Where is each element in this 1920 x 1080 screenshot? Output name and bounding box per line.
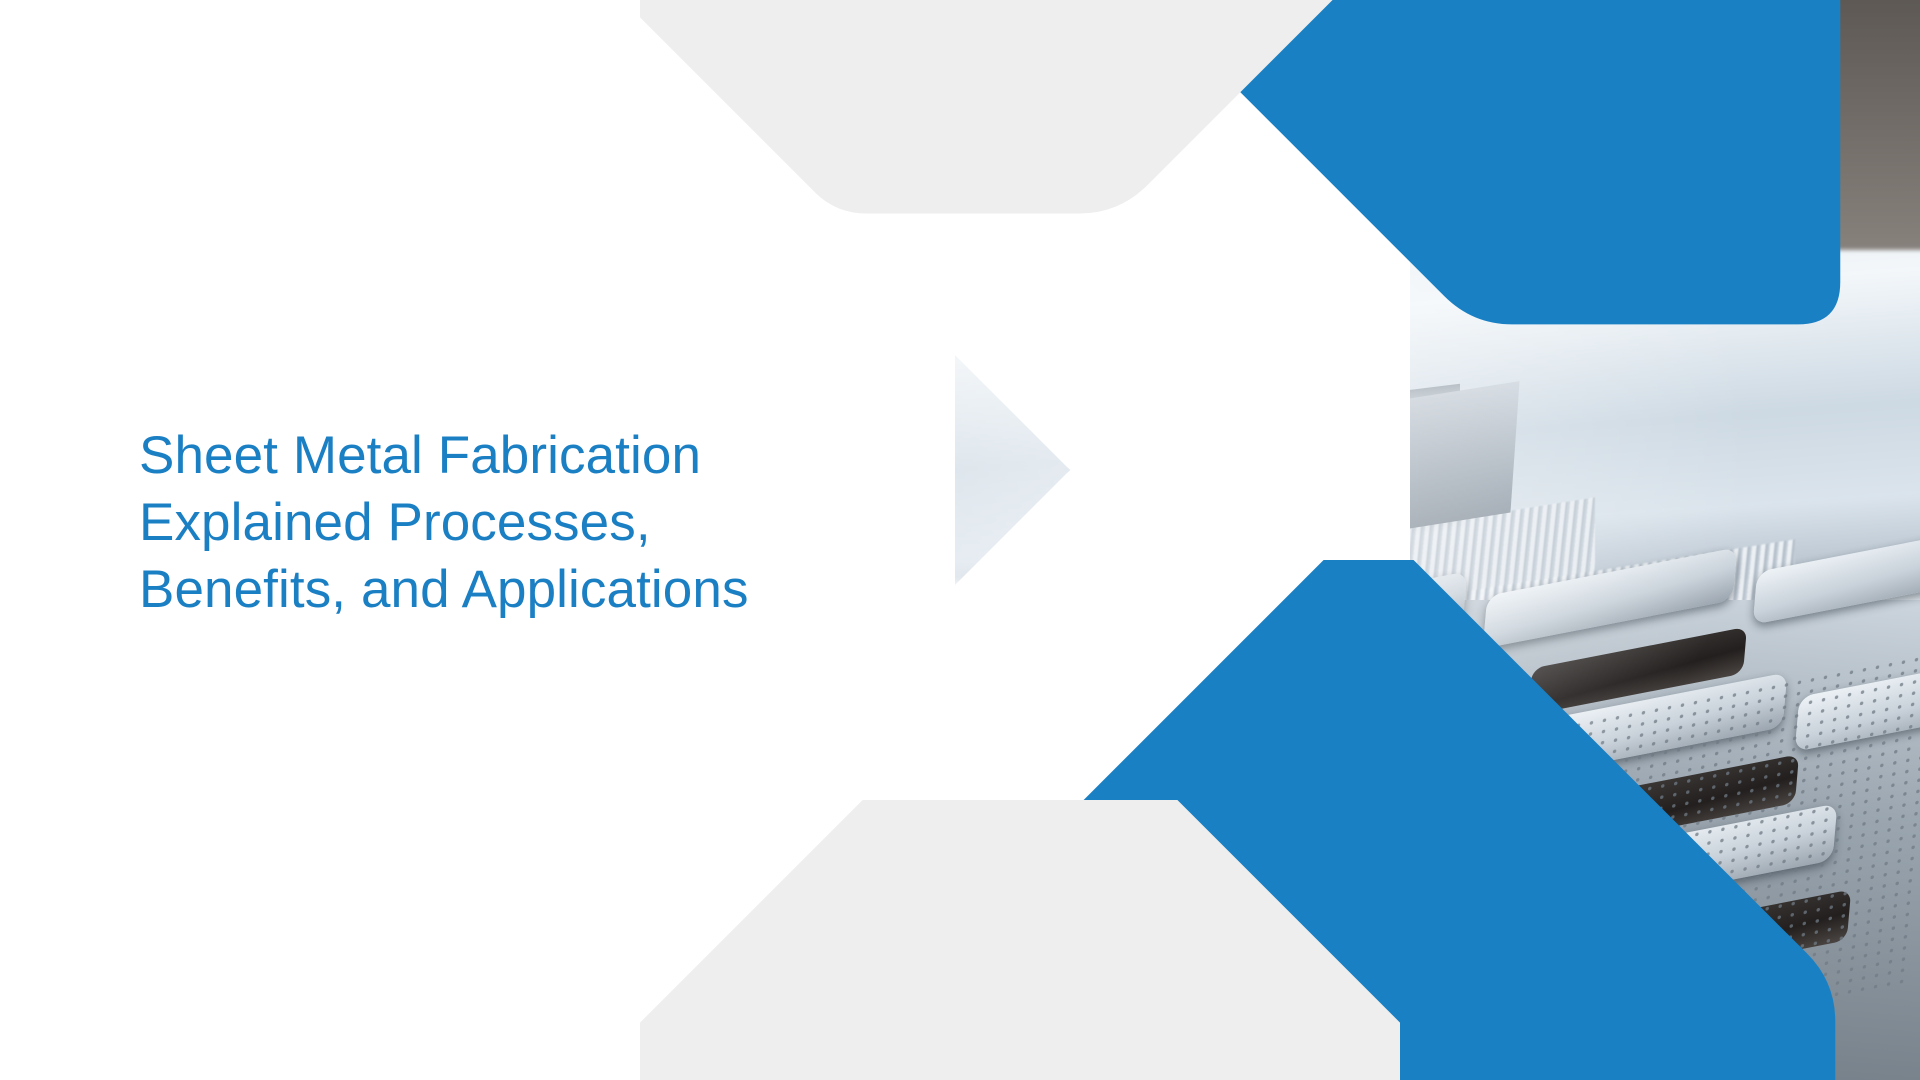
slide-title: Sheet Metal Fabrication Explained Proces… [139, 422, 959, 624]
grey-chevron-top [640, 0, 1400, 240]
presentation-slide: Sheet Metal Fabrication Explained Proces… [0, 0, 1920, 1080]
slide-title-line-3: Benefits, and Applications [139, 560, 749, 619]
grey-chevron-bottom [640, 800, 1400, 1080]
slide-title-line-1: Sheet Metal Fabrication [139, 426, 701, 485]
title-block: Sheet Metal Fabrication Explained Proces… [139, 386, 959, 659]
slide-title-line-2: Explained Processes, [139, 493, 651, 552]
